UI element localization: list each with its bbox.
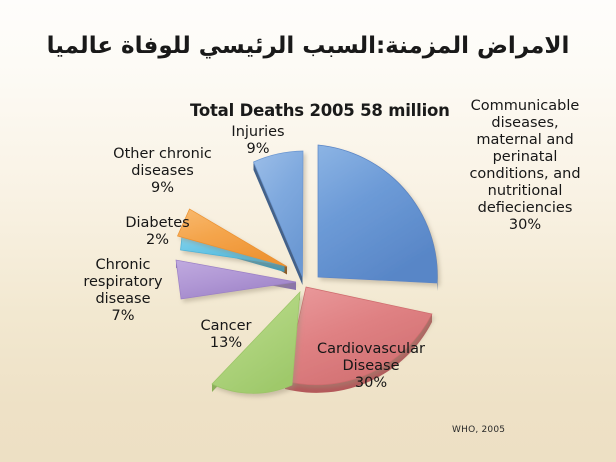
pie-label-diabetes: Diabetes 2% <box>105 215 210 249</box>
pie-label-cardiovascular: Cardiovascular Disease 30% <box>291 341 451 392</box>
pie-slice-communicable[interactable] <box>318 145 437 283</box>
chart-title: Total Deaths 2005 58 million <box>190 101 450 120</box>
slide-canvas: الامراض المزمنة:السبب الرئيسي للوفاة عال… <box>0 0 616 462</box>
pie-label-cancer: Cancer 13% <box>181 318 271 352</box>
pie-label-communicable: Communicable diseases, maternal and peri… <box>437 98 613 234</box>
source-attribution: WHO, 2005 <box>452 425 505 435</box>
pie-label-injuries: Injuries 9% <box>198 124 318 158</box>
pie-label-chronic-respiratory: Chronic respiratory disease 7% <box>68 257 178 325</box>
